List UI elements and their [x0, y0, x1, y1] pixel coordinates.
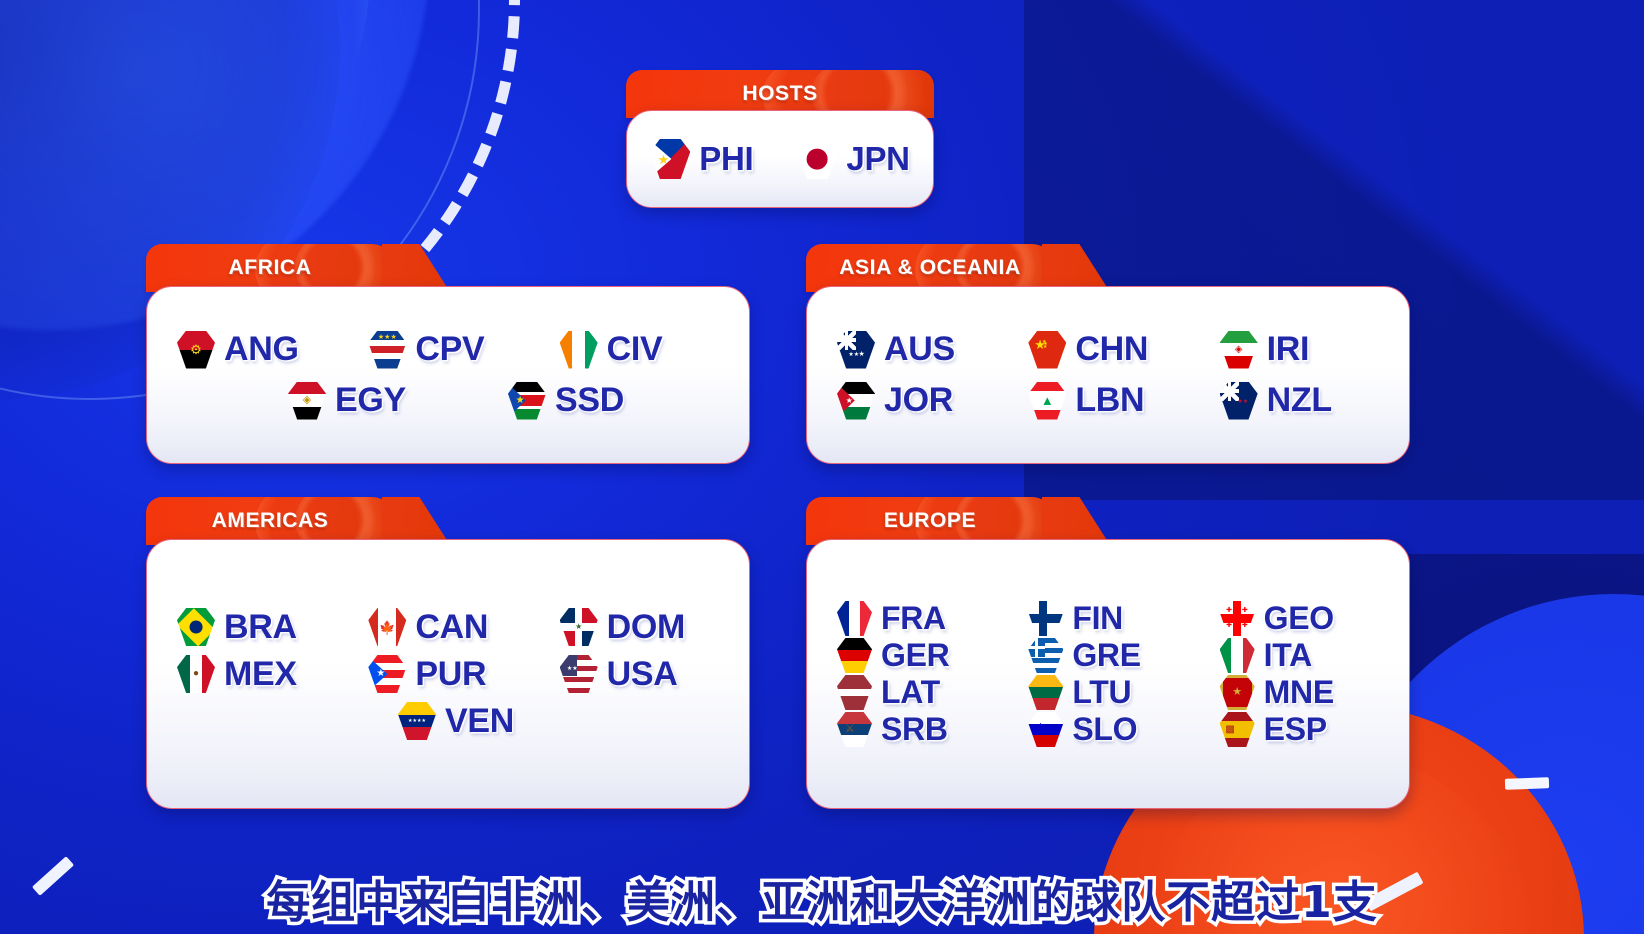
team-code-srb: SRB	[881, 711, 948, 748]
region-tab-americas: AMERICAS	[146, 497, 394, 545]
flag-new-zealand-icon: ★★	[1220, 382, 1258, 420]
team-code-egy: EGY	[335, 381, 406, 420]
region-tab-tail-asia-oceania	[1042, 244, 1110, 292]
team-entry-cpv: ★★★CPV	[352, 330, 543, 369]
flag-lebanon-icon: ▲	[1028, 382, 1066, 420]
team-row-partial: ★★★★VEN	[161, 702, 735, 741]
team-entry-ven: ★★★★VEN	[382, 702, 514, 741]
region-panel-asia-oceania: ASIA & OCEANIA ★ ★★AUS ★ ★ ★ ★CHN ◈IRI ★…	[806, 244, 1410, 464]
team-entry-iri: ◈IRI	[1204, 330, 1395, 369]
team-entry-mex: ●MEX	[161, 655, 352, 694]
team-code-iri: IRI	[1267, 330, 1310, 369]
hosts-card: ★PHI JPN	[626, 110, 934, 208]
region-card-asia-oceania: ★ ★★AUS ★ ★ ★ ★CHN ◈IRI ★JOR ▲LBN ★★NZL	[806, 286, 1410, 464]
flag-slovenia-icon: ▲	[1028, 712, 1063, 747]
team-code-aus: AUS	[884, 330, 955, 369]
hosts-team-row: ★PHI JPN	[627, 139, 933, 179]
team-entry-bra: BRA	[161, 608, 352, 647]
bg-dash-mark-1	[1505, 777, 1549, 790]
team-entry-fin: FIN	[1012, 600, 1203, 637]
flag-brazil-icon	[177, 608, 215, 646]
team-code-usa: USA	[607, 655, 678, 694]
team-code-ger: GER	[881, 637, 949, 674]
team-entry-egy: ◈EGY	[272, 381, 406, 420]
team-code-fin: FIN	[1072, 600, 1123, 637]
team-entry-gre: GRE	[1012, 637, 1203, 674]
team-grid-europe: FRA FIN ✚ ✚ ✚ ✚GEOGER GREITALATLTU ★MNE …	[807, 600, 1409, 748]
team-grid-americas: BRA 🍁CAN ★DOM ●MEX ★PUR ★★USA ★★★★VEN	[147, 608, 749, 741]
flag-finland-icon	[1028, 601, 1063, 636]
hosts-panel: HOSTS ★PHI JPN	[626, 70, 934, 208]
flag-iran-icon: ◈	[1220, 331, 1258, 369]
team-entry-fra: FRA	[821, 600, 1012, 637]
team-code-mne: MNE	[1264, 674, 1334, 711]
flag-australia-icon: ★ ★★	[837, 331, 875, 369]
team-entry-srb: ⚔SRB	[821, 711, 1012, 748]
flag-canada-icon: 🍁	[368, 608, 406, 646]
team-entry-ang: ⚙ANG	[161, 330, 352, 369]
team-code-pur: PUR	[415, 655, 486, 694]
team-entry-aus: ★ ★★AUS	[821, 330, 1012, 369]
region-tab-africa: AFRICA	[146, 244, 394, 292]
team-entry-ita: ITA	[1204, 637, 1395, 674]
team-entry-phi: ★PHI	[650, 139, 753, 179]
region-tab-label-asia-oceania: ASIA & OCEANIA	[839, 256, 1020, 280]
team-code-mex: MEX	[224, 655, 297, 694]
flag-dominican-republic-icon: ★	[560, 608, 598, 646]
bg-arc-highlight	[0, 0, 370, 280]
region-card-europe: FRA FIN ✚ ✚ ✚ ✚GEOGER GREITALATLTU ★MNE …	[806, 539, 1410, 809]
team-entry-civ: CIV	[544, 330, 735, 369]
region-tab-tail-europe	[1042, 497, 1110, 545]
team-entry-pur: ★PUR	[352, 655, 543, 694]
team-code-ang: ANG	[224, 330, 299, 369]
team-entry-mne: ★MNE	[1204, 674, 1395, 711]
region-panel-americas: AMERICAS BRA 🍁CAN ★DOM ●MEX ★PUR ★★USA ★…	[146, 497, 750, 809]
hosts-tab-label: HOSTS	[742, 82, 817, 106]
region-panel-africa: AFRICA ⚙ANG ★★★CPVCIV ◈EGY ★SSD	[146, 244, 750, 464]
flag-puerto-rico-icon: ★	[368, 655, 406, 693]
team-code-lat: LAT	[881, 674, 940, 711]
team-code-gre: GRE	[1072, 637, 1140, 674]
team-entry-chn: ★ ★ ★ ★CHN	[1012, 330, 1203, 369]
flag-greece-icon	[1028, 638, 1063, 673]
flag-lithuania-icon	[1028, 675, 1063, 710]
team-entry-can: 🍁CAN	[352, 608, 543, 647]
flag-germany-icon	[837, 638, 872, 673]
flag-mexico-icon: ●	[177, 655, 215, 693]
flag-montenegro-icon: ★	[1220, 675, 1255, 710]
team-entry-ger: GER	[821, 637, 1012, 674]
team-entry-dom: ★DOM	[544, 608, 735, 647]
team-code-geo: GEO	[1264, 600, 1334, 637]
team-code-cpv: CPV	[415, 330, 484, 369]
team-entry-esp: ▩ESP	[1204, 711, 1395, 748]
region-tab-label-europe: EUROPE	[884, 509, 976, 533]
team-code-fra: FRA	[881, 600, 946, 637]
region-panel-europe: EUROPE FRA FIN ✚ ✚ ✚ ✚GEOGER GREITALATLT…	[806, 497, 1410, 809]
team-code-ltu: LTU	[1072, 674, 1131, 711]
region-tab-label-americas: AMERICAS	[212, 509, 329, 533]
team-entry-geo: ✚ ✚ ✚ ✚GEO	[1204, 600, 1395, 637]
flag-angola-icon: ⚙	[177, 331, 215, 369]
team-code-can: CAN	[415, 608, 488, 647]
flag-serbia-icon: ⚔	[837, 712, 872, 747]
team-entry-nzl: ★★NZL	[1204, 381, 1395, 420]
team-code-lbn: LBN	[1075, 381, 1144, 420]
flag-south-sudan-icon: ★	[508, 382, 546, 420]
flag-latvia-icon	[837, 675, 872, 710]
team-code-bra: BRA	[224, 608, 297, 647]
team-entry-usa: ★★USA	[544, 655, 735, 694]
flag-ivory-coast-icon	[560, 331, 598, 369]
team-entry-lbn: ▲LBN	[1012, 381, 1203, 420]
flag-italy-icon	[1220, 638, 1255, 673]
flag-spain-icon: ▩	[1220, 712, 1255, 747]
team-code-dom: DOM	[607, 608, 685, 647]
flag-egypt-icon: ◈	[288, 382, 326, 420]
flag-france-icon	[837, 601, 872, 636]
team-grid-asia-oceania: ★ ★★AUS ★ ★ ★ ★CHN ◈IRI ★JOR ▲LBN ★★NZL	[807, 330, 1409, 420]
flag-usa-icon: ★★	[560, 655, 598, 693]
team-code-slo: SLO	[1072, 711, 1137, 748]
team-row-partial: ◈EGY ★SSD	[161, 381, 735, 420]
flag-china-icon: ★ ★ ★ ★	[1028, 331, 1066, 369]
team-entry-jor: ★JOR	[821, 381, 1012, 420]
team-code-phi: PHI	[699, 140, 753, 178]
caption-text: 每组中来自非洲、美洲、亚洲和大洋洲的球队不超过1支	[0, 866, 1644, 930]
team-grid-africa: ⚙ANG ★★★CPVCIV ◈EGY ★SSD	[147, 330, 749, 420]
flag-venezuela-icon: ★★★★	[398, 702, 436, 740]
team-code-nzl: NZL	[1267, 381, 1332, 420]
region-tab-asia-oceania: ASIA & OCEANIA	[806, 244, 1054, 292]
flag-philippines-icon: ★	[650, 139, 690, 179]
team-code-ssd: SSD	[555, 381, 624, 420]
region-tab-tail-americas	[382, 497, 450, 545]
team-entry-jpn: JPN	[797, 139, 909, 179]
team-code-esp: ESP	[1264, 711, 1327, 748]
team-entry-lat: LAT	[821, 674, 1012, 711]
qualified-teams-graphic: HOSTS ★PHI JPN AFRICA ⚙ANG ★★★CPVCIV ◈EG…	[0, 0, 1644, 934]
flag-jordan-icon: ★	[837, 382, 875, 420]
team-code-chn: CHN	[1075, 330, 1148, 369]
flag-georgia-icon: ✚ ✚ ✚ ✚	[1220, 601, 1255, 636]
flag-japan-icon	[797, 139, 837, 179]
flag-cape-verde-icon: ★★★	[368, 331, 406, 369]
region-tab-tail-africa	[382, 244, 450, 292]
region-card-africa: ⚙ANG ★★★CPVCIV ◈EGY ★SSD	[146, 286, 750, 464]
team-code-jor: JOR	[884, 381, 953, 420]
region-tab-europe: EUROPE	[806, 497, 1054, 545]
team-code-ita: ITA	[1264, 637, 1312, 674]
team-code-civ: CIV	[607, 330, 663, 369]
team-code-jpn: JPN	[846, 140, 909, 178]
team-code-ven: VEN	[445, 702, 514, 741]
region-tab-label-africa: AFRICA	[229, 256, 312, 280]
team-entry-slo: ▲SLO	[1012, 711, 1203, 748]
team-entry-ssd: ★SSD	[492, 381, 624, 420]
team-entry-ltu: LTU	[1012, 674, 1203, 711]
region-card-americas: BRA 🍁CAN ★DOM ●MEX ★PUR ★★USA ★★★★VEN	[146, 539, 750, 809]
